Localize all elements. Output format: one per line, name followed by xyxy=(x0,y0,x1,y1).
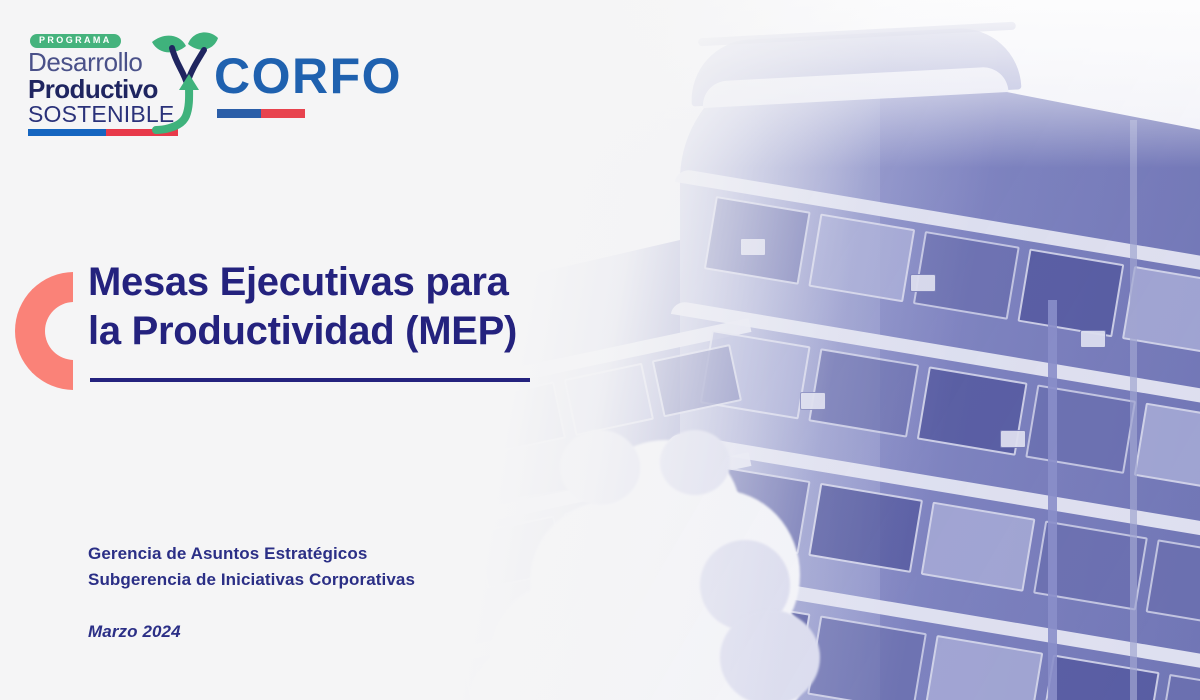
page-title: Mesas Ejecutivas para la Productividad (… xyxy=(88,258,608,356)
department-line-2: Subgerencia de Iniciativas Corporativas xyxy=(88,567,415,593)
department-line-1: Gerencia de Asuntos Estratégicos xyxy=(88,541,415,567)
title-underline xyxy=(90,378,530,382)
page-title-line-1: Mesas Ejecutivas para xyxy=(88,260,509,304)
corfo-logo[interactable]: CORFO xyxy=(214,51,402,118)
programa-badge: PROGRAMA xyxy=(30,34,121,48)
presentation-date: Marzo 2024 xyxy=(88,622,181,642)
plant-sprout-arrow-icon xyxy=(146,26,224,138)
cover-slide: PROGRAMA Desarrollo Productivo SOSTENIBL… xyxy=(0,0,1200,700)
page-title-line-2: la Productividad (MEP) xyxy=(88,309,517,353)
department-block: Gerencia de Asuntos Estratégicos Subgere… xyxy=(88,541,415,594)
programa-desarrollo-productivo-sostenible-logo[interactable]: PROGRAMA Desarrollo Productivo SOSTENIBL… xyxy=(28,30,188,136)
corfo-flag-bar xyxy=(217,109,305,118)
logo-bar: PROGRAMA Desarrollo Productivo SOSTENIBL… xyxy=(28,30,402,136)
corfo-wordmark: CORFO xyxy=(214,51,402,101)
